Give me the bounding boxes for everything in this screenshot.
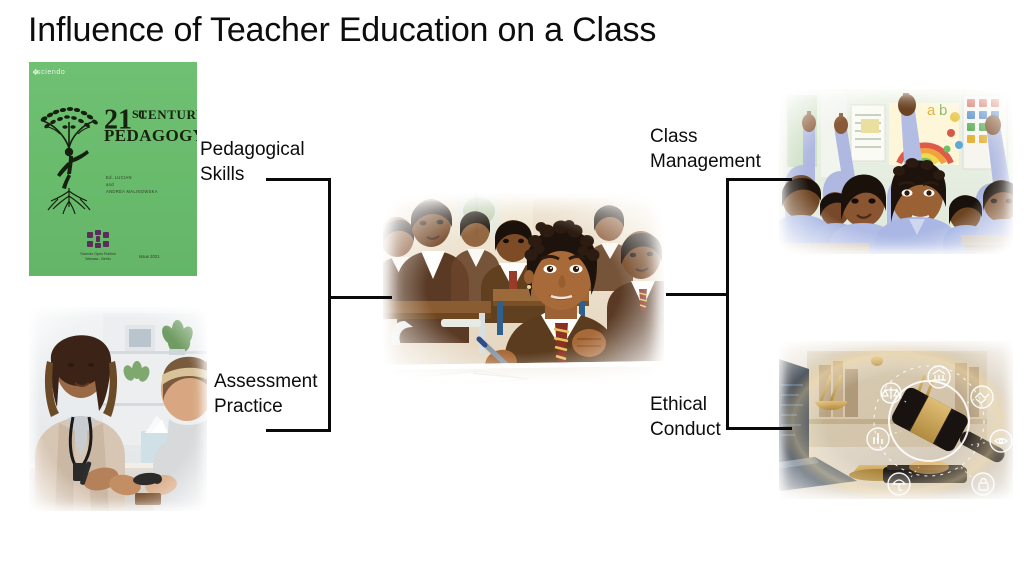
image-book-cover-21st-century-pedagogy: ❖ sciendo xyxy=(29,62,197,276)
raised-hands-photo-canvas: a b xyxy=(779,89,1013,254)
book-title-subject: PEDAGOGY xyxy=(104,126,197,146)
book-title-century: CENTURY xyxy=(138,107,197,123)
label-pedagogical-skills: Pedagogical Skills xyxy=(200,137,340,187)
image-classroom-center xyxy=(383,193,664,383)
book-authors: Ed. LUCIAN and ANDREA MALINOWSKA xyxy=(106,174,158,195)
image-ethical-conduct-gavel xyxy=(779,341,1013,499)
label-class-management: Class Management xyxy=(650,124,800,174)
classroom-photo-canvas xyxy=(383,193,664,383)
gavel-photo-canvas xyxy=(779,341,1013,499)
counseling-photo-canvas xyxy=(29,307,207,511)
connector-assessment-practice-stub xyxy=(266,429,331,432)
connector-center-to-right xyxy=(666,293,728,296)
connector-left-to-center xyxy=(330,296,392,299)
book-publisher-name: Sciendo Open Publish Warsaw - Berlin xyxy=(65,252,131,262)
image-class-management-raised-hands: a b xyxy=(779,89,1013,254)
connector-class-management-stub xyxy=(726,178,792,181)
tree-dancer-illustration xyxy=(38,94,100,216)
image-assessment-practice-counseling xyxy=(29,307,207,511)
label-ethical-conduct: Ethical Conduct xyxy=(650,392,790,442)
label-assessment-practice: Assessment Practice xyxy=(214,369,364,419)
page-title: Influence of Teacher Education on a Clas… xyxy=(28,8,788,52)
book-year: Issue 2021 xyxy=(139,254,160,259)
slide-canvas: Influence of Teacher Education on a Clas… xyxy=(0,0,1024,567)
sciendo-wordmark: sciendo xyxy=(37,69,65,76)
publisher-logo-icon xyxy=(85,230,111,250)
